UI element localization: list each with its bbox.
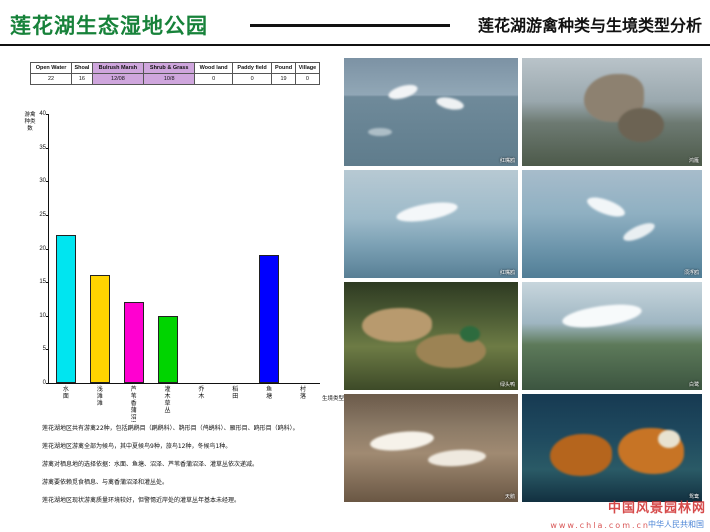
- chart-y-tick: 15: [39, 279, 46, 285]
- table-header-cell: Shrub & Grass: [144, 63, 195, 74]
- photo-mandarin-ducks: 鸳鸯: [522, 394, 702, 502]
- chart-x-tick-label: 稻 田: [232, 387, 238, 401]
- note-line: 莲花湖地区现状游禽质量环境较好，但警惕近岸处的灌草丛年基本未经理。: [30, 494, 326, 507]
- chart-bar: [259, 255, 279, 383]
- photo-goose-wings: 鸿雁: [522, 58, 702, 166]
- photo-swans-flight: 天鹅: [344, 394, 518, 502]
- chart-x-tick-label: 鱼 塘: [266, 387, 272, 401]
- photo-caption: 绿头鸭: [500, 381, 515, 388]
- table-cell: 10/8: [144, 74, 195, 85]
- photo-image: [344, 394, 518, 502]
- reflection-shape: [368, 128, 392, 136]
- table-row: 22 16 12/08 10/8 0 0 19 0: [31, 74, 320, 85]
- chart-y-tick-mark: [46, 249, 49, 250]
- chart-y-tick-mark: [46, 114, 49, 115]
- table-cell: 22: [31, 74, 72, 85]
- bird-shape: [550, 434, 612, 476]
- chart-y-tick: 25: [39, 212, 46, 218]
- chart-y-tick: 30: [39, 178, 46, 184]
- chart-y-axis-label: 游禽种类数: [24, 112, 36, 133]
- chart-x-tick-label: 灌 木 草 丛: [165, 387, 171, 415]
- habitat-table: Open Water Shoal Bulrush Marsh Shrub & G…: [30, 62, 320, 85]
- chart-plot-area: 0510152025303540水 面浅 滩 滩芦 苇 香 蒲 沼 泽 地灌 木…: [48, 114, 320, 384]
- note-line: 莲花湖地区共有游禽22种，包括䴙䴘目（䴙䴘科）、鹈形目（鸬鹚科）、雁形目、鸥形目…: [30, 422, 326, 435]
- chart-y-tick: 40: [39, 111, 46, 117]
- watermark-secondary: www.chla.com.cn: [550, 521, 650, 530]
- header-rule: [250, 24, 450, 27]
- chart-y-tick-mark: [46, 148, 49, 149]
- table-header-cell: Bulrush Marsh: [92, 63, 143, 74]
- chart-bar: [158, 316, 178, 383]
- bird-shape: [362, 308, 432, 342]
- page-title: 莲花湖生态湿地公园: [10, 10, 208, 40]
- table-cell: 0: [295, 74, 319, 85]
- photo-caption: 白鹭: [689, 381, 699, 388]
- poster-header: 莲花湖生态湿地公园 莲花湖游禽种类与生境类型分析: [0, 0, 710, 46]
- chart-bar: [90, 275, 110, 383]
- bird-head-shape: [658, 430, 680, 448]
- table-cell: 0: [195, 74, 233, 85]
- photo-grid: 红嘴鸥 鸿雁 红嘴鸥 须浮鸥: [344, 58, 702, 526]
- table-header-cell: Wood land: [195, 63, 233, 74]
- table-cell: 12/08: [92, 74, 143, 85]
- chart-x-axis-label: 生境类型: [322, 394, 344, 402]
- section-title: 莲花湖游禽种类与生境类型分析: [478, 12, 702, 36]
- note-line: 游禽对栖息地的选择依据：水面、鱼塘、沼泽、芦苇香蒲沼泽、灌草丛依次递减。: [30, 458, 326, 471]
- note-line: 游禽要依赖觅食栖息、与禽香蒲沼泽和灌丛处。: [30, 476, 326, 489]
- analysis-notes: 莲花湖地区共有游禽22种，包括䴙䴘目（䴙䴘科）、鹈形目（鸬鹚科）、雁形目、鸥形目…: [30, 422, 326, 522]
- chart-x-tick-label: 浅 滩 滩: [97, 387, 103, 408]
- photo-image: [344, 170, 518, 278]
- photo-image: [522, 170, 702, 278]
- photo-caption: 须浮鸥: [684, 269, 699, 276]
- watermark-primary: 中国风景园林网: [608, 497, 706, 516]
- chart-y-tick-mark: [46, 383, 49, 384]
- chart-x-tick-label: 村 落: [300, 387, 306, 401]
- bird-head-shape: [460, 326, 480, 342]
- header-underline: [0, 44, 710, 46]
- photo-terns-diving: 须浮鸥: [522, 170, 702, 278]
- chart-x-tick-label: 乔 木: [198, 387, 204, 401]
- table-header-cell: Paddy field: [232, 63, 271, 74]
- photo-egret-flight: 白鹭: [522, 282, 702, 390]
- poster-body: Open Water Shoal Bulrush Marsh Shrub & G…: [0, 48, 710, 532]
- chart-y-tick: 10: [39, 313, 46, 319]
- photo-caption: 红嘴鸥: [500, 157, 515, 164]
- analysis-column: Open Water Shoal Bulrush Marsh Shrub & G…: [8, 54, 338, 524]
- photo-mallard-pair: 绿头鸭: [344, 282, 518, 390]
- table-cell: 19: [272, 74, 295, 85]
- table-header-cell: Open Water: [31, 63, 72, 74]
- photo-image: [344, 58, 518, 166]
- chart-y-tick-mark: [46, 215, 49, 216]
- chart-bar: [124, 302, 144, 383]
- chart-y-tick: 35: [39, 145, 46, 151]
- table-header-cell: Shoal: [72, 63, 93, 74]
- table-cell: 0: [232, 74, 271, 85]
- photo-caption: 天鹅: [505, 493, 515, 500]
- photo-gull-over-water: 红嘴鸥: [344, 170, 518, 278]
- table-header-row: Open Water Shoal Bulrush Marsh Shrub & G…: [31, 63, 320, 74]
- photo-image: [522, 282, 702, 390]
- photo-caption: 鸿雁: [689, 157, 699, 164]
- photo-caption: 红嘴鸥: [500, 269, 515, 276]
- bird-body-shape: [618, 108, 664, 142]
- watermark-tertiary: 中华人民共和国: [648, 519, 704, 530]
- chart-y-tick-mark: [46, 349, 49, 350]
- note-line: 莲花湖地区游禽全部为候鸟，其中夏候鸟9种，旅鸟12种，冬候鸟1种。: [30, 440, 326, 453]
- chart-x-tick-label: 水 面: [63, 387, 69, 401]
- chart-y-tick-mark: [46, 181, 49, 182]
- chart-y-tick-mark: [46, 316, 49, 317]
- photo-gulls-flying: 红嘴鸥: [344, 58, 518, 166]
- bar-chart: 游禽种类数 0510152025303540水 面浅 滩 滩芦 苇 香 蒲 沼 …: [22, 102, 332, 412]
- table-header-cell: Pound: [272, 63, 295, 74]
- table-header-cell: Village: [295, 63, 319, 74]
- poster-page: 莲花湖生态湿地公园 莲花湖游禽种类与生境类型分析 Open Water Shoa…: [0, 0, 710, 532]
- table-cell: 16: [72, 74, 93, 85]
- chart-bar: [56, 235, 76, 383]
- chart-y-tick-mark: [46, 282, 49, 283]
- chart-y-tick: 20: [39, 246, 46, 252]
